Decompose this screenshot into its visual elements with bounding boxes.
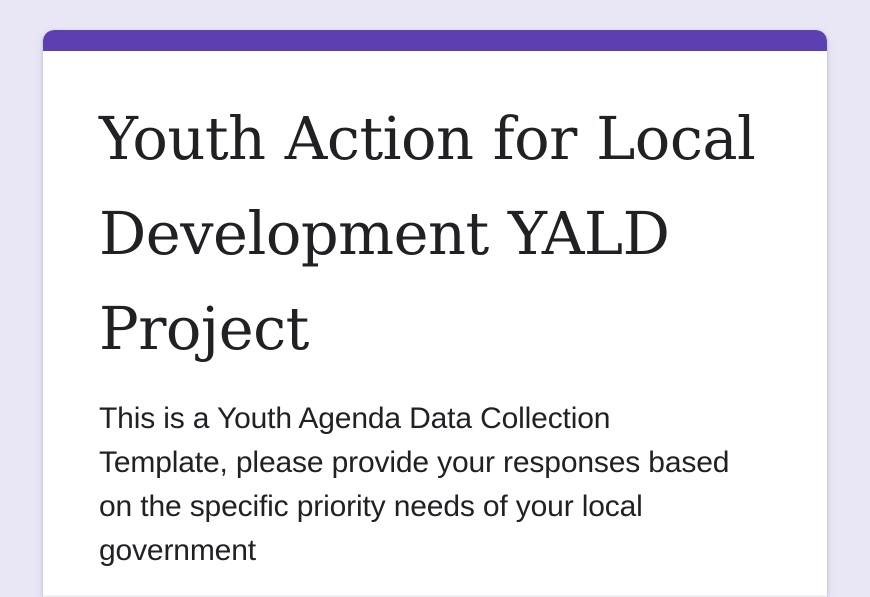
form-description[interactable]: This is a Youth Agenda Data Collection T… (99, 397, 739, 573)
page-backdrop: Youth Action for Local Development YALD … (0, 0, 870, 597)
card-bottom-divider (43, 591, 827, 597)
form-accent-bar (43, 30, 827, 51)
form-header-card: Youth Action for Local Development YALD … (43, 30, 827, 597)
form-header-content: Youth Action for Local Development YALD … (43, 51, 827, 597)
form-title[interactable]: Youth Action for Local Development YALD … (99, 91, 771, 376)
